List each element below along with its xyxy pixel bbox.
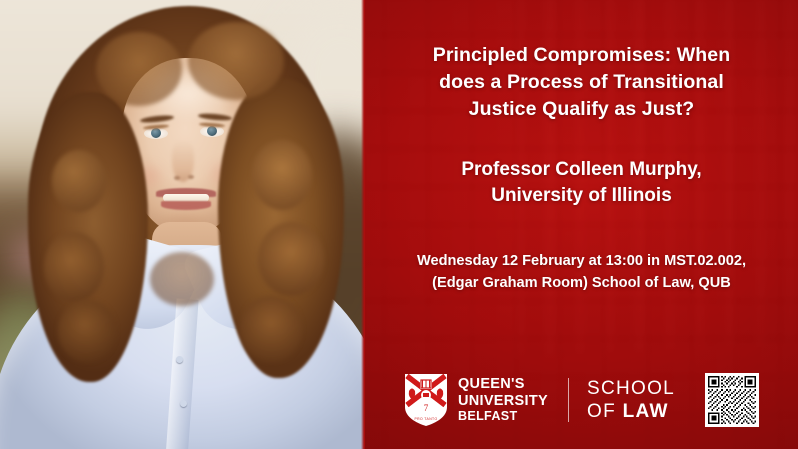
nostril-left [174,176,180,180]
lower-lip [161,201,211,210]
event-details-line: Wednesday 12 February at 13:00 in MST.02… [417,253,746,269]
of-law-line: OF LAW [587,402,675,422]
iris-right [207,126,217,136]
red-info-panel: Principled Compromises: When does a Proc… [365,0,798,449]
talk-title-line: Principled Compromises: When [433,44,731,66]
talk-title-line: Justice Qualify as Just? [469,98,695,120]
svg-text:PRO TANTO: PRO TANTO [414,417,437,421]
logo-divider [568,378,569,422]
hair-curl [52,150,106,212]
hair-curl [58,300,116,362]
shirt-button-2 [180,400,187,407]
hair-curl [150,252,214,306]
queens-university-crest-icon: 7 PRO TANTO [404,373,448,427]
talk-title: Principled Compromises: When does a Proc… [433,42,731,123]
speaker-line: Professor Colleen Murphy, [461,159,701,180]
hair-curl [252,140,312,210]
of-text: OF [587,401,623,422]
qr-code[interactable] [705,373,759,427]
talk-title-line: does a Process of Transitional [439,71,724,93]
wordmark-belfast: BELFAST [458,410,548,423]
hair-curl [240,296,302,362]
hair-curl [258,222,324,296]
event-details-line: (Edgar Graham Room) School of Law, QUB [432,275,731,291]
hair-curl [44,232,104,302]
speaker-name: Professor Colleen Murphy, University of … [461,157,701,208]
hair-curl [188,22,284,100]
speaker-photo [0,0,365,449]
wordmark-university: UNIVERSITY [458,394,548,409]
law-text: LAW [623,401,669,422]
event-details: Wednesday 12 February at 13:00 in MST.02… [417,250,746,294]
svg-text:7: 7 [424,403,429,413]
school-of-law-wordmark: SCHOOL OF LAW [587,379,675,422]
iris-left [151,128,161,138]
school-line: SCHOOL [587,379,675,399]
shirt-button-1 [176,356,183,363]
speaker-line: University of Illinois [491,185,672,206]
hair-curl [96,32,182,106]
qub-wordmark: QUEEN'S UNIVERSITY BELFAST [458,377,548,423]
mouth [156,188,216,210]
wordmark-queens: QUEEN'S [458,377,548,392]
nostril-right [188,175,194,179]
logo-row: 7 PRO TANTO QUEEN'S UNIVERSITY BELFAST S… [365,373,798,427]
qr-code-icon [708,376,756,424]
event-poster: Principled Compromises: When does a Proc… [0,0,798,449]
